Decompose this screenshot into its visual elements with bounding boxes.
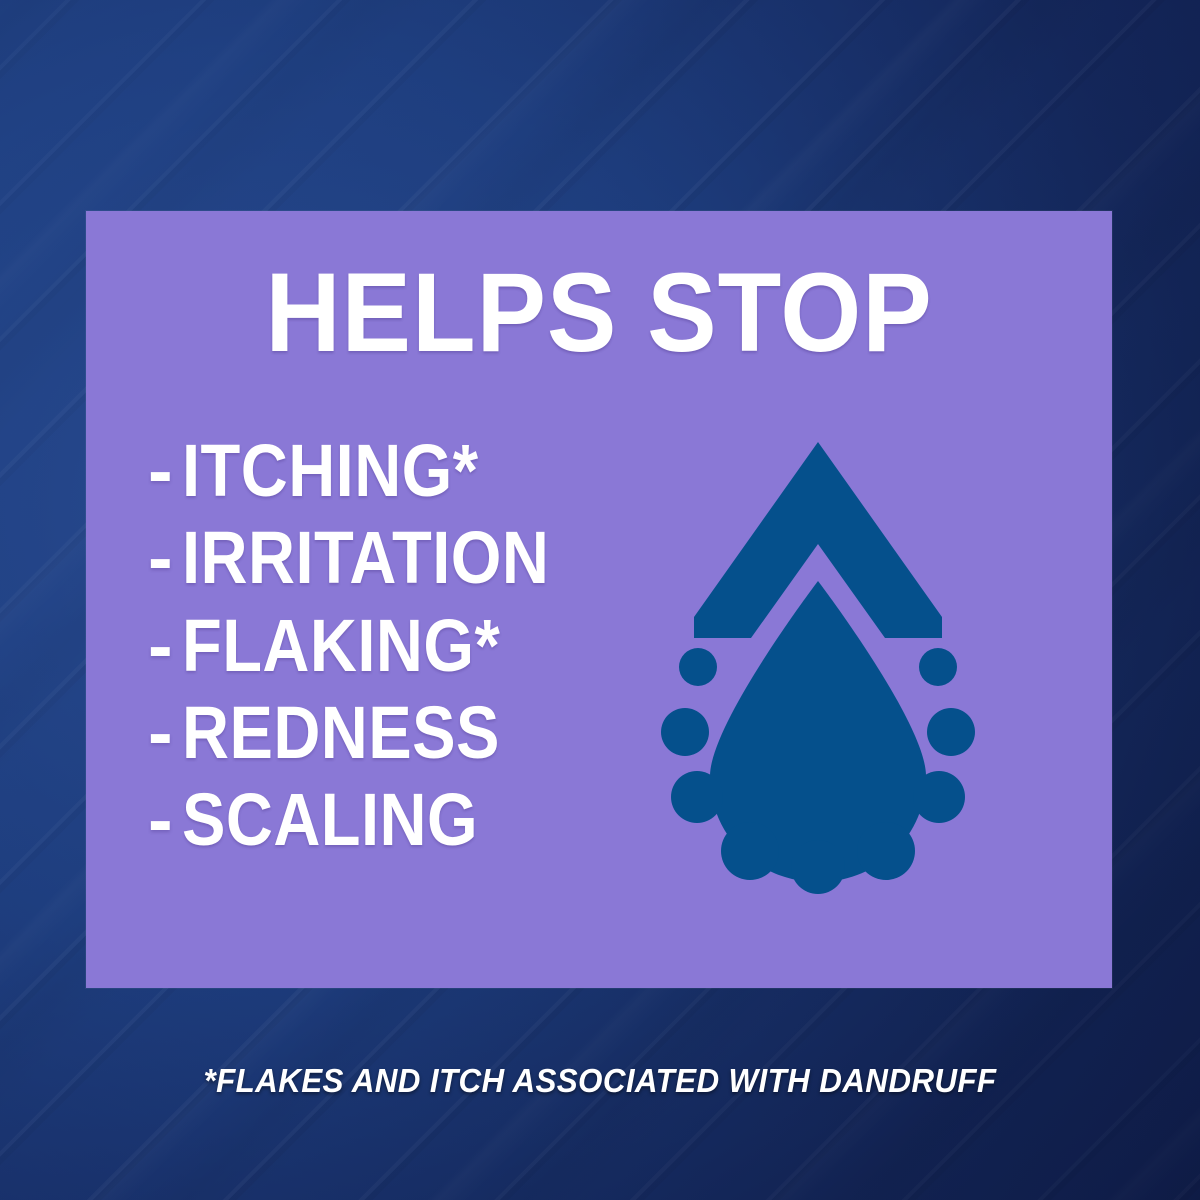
list-item-label: SCALING <box>182 776 478 863</box>
accent-dot <box>919 648 957 686</box>
bullet-dash: - <box>148 427 182 514</box>
promo-graphic: HELPS STOP - ITCHING* - IRRITATION - FLA… <box>0 0 1200 1200</box>
list-item: - FLAKING* <box>148 602 618 689</box>
accent-dot <box>721 822 779 880</box>
accent-dot <box>791 840 845 894</box>
accent-dot <box>679 648 717 686</box>
droplet-with-chevron-and-dots-icon <box>628 421 1008 921</box>
list-item: - IRRITATION <box>148 514 618 601</box>
bullet-dash: - <box>148 602 182 689</box>
accent-dot <box>857 822 915 880</box>
accent-dot <box>661 708 709 756</box>
bullet-dash: - <box>148 776 182 863</box>
bullet-dash: - <box>148 689 182 776</box>
list-item-label: REDNESS <box>182 689 500 776</box>
accent-dot <box>913 771 965 823</box>
list-item: - REDNESS <box>148 689 618 776</box>
symptom-list: - ITCHING* - IRRITATION - FLAKING* - RED… <box>148 427 618 864</box>
page-title: HELPS STOP <box>122 257 1076 369</box>
feature-panel: HELPS STOP - ITCHING* - IRRITATION - FLA… <box>86 211 1112 988</box>
list-item: - SCALING <box>148 776 618 863</box>
list-item-label: IRRITATION <box>182 514 549 601</box>
list-item-label: FLAKING* <box>182 602 500 689</box>
bullet-dash: - <box>148 514 182 601</box>
accent-dot <box>927 708 975 756</box>
list-item-label: ITCHING* <box>182 427 479 514</box>
list-item: - ITCHING* <box>148 427 618 514</box>
accent-dot <box>671 771 723 823</box>
footnote-text: *FLAKES AND ITCH ASSOCIATED WITH DANDRUF… <box>30 1062 1170 1100</box>
